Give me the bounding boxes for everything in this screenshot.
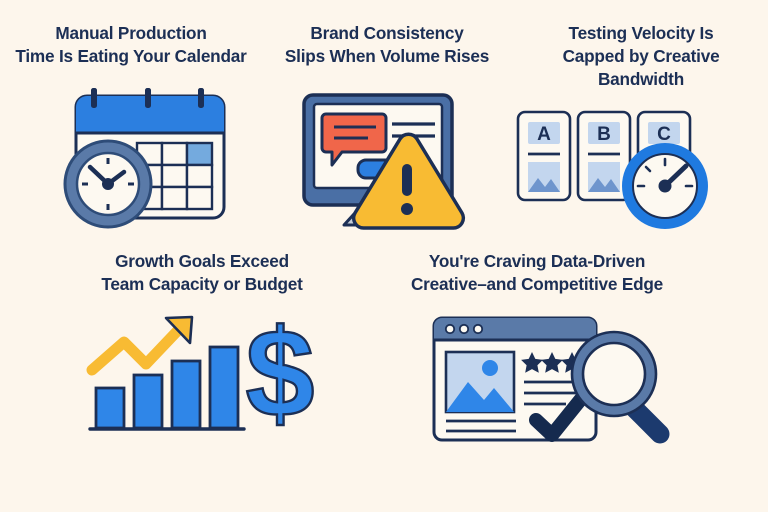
card-title-growth-goals: Growth Goals Exceed Team Capacity or Bud… [42, 250, 362, 296]
title-line: Bandwidth [514, 68, 768, 91]
card-label-b: B [597, 124, 611, 145]
title-line: Capped by Creative [514, 45, 768, 68]
calendar-clock-icon [58, 86, 238, 234]
title-line: Growth Goals Exceed [42, 250, 362, 273]
card-title-manual-production: Manual Production Time Is Eating Your Ca… [0, 22, 262, 68]
card-label-a: A [537, 124, 551, 145]
dollar-sign-icon: $ [246, 312, 315, 438]
title-line: Manual Production [0, 22, 262, 45]
card-title-testing-velocity: Testing Velocity Is Capped by Creative B… [514, 22, 768, 91]
title-line: Testing Velocity Is [514, 22, 768, 45]
window-dot [474, 325, 482, 333]
card-testing-velocity: Testing Velocity Is Capped by Creative B… [514, 22, 768, 91]
window-dot [446, 325, 454, 333]
title-line: Creative–and Competitive Edge [372, 273, 702, 296]
title-line: You're Craving Data-Driven [372, 250, 702, 273]
title-line: Slips When Volume Rises [256, 45, 518, 68]
bar-chart-dollar-icon: $ [78, 312, 318, 438]
card-title-brand-consistency: Brand Consistency Slips When Volume Rise… [256, 22, 518, 68]
infographic-board: Manual Production Time Is Eating Your Ca… [0, 0, 768, 512]
window-dot [460, 325, 468, 333]
card-brand-consistency: Brand Consistency Slips When Volume Rise… [256, 22, 518, 68]
card-title-data-driven: You're Craving Data-Driven Creative–and … [372, 250, 702, 296]
title-line: Brand Consistency [256, 22, 518, 45]
monitor-warning-icon [296, 92, 488, 232]
ab-test-cards-gauge-icon: A B C [510, 104, 710, 234]
browser-search-review-icon [424, 310, 690, 448]
card-label-c: C [657, 124, 671, 145]
card-manual-production: Manual Production Time Is Eating Your Ca… [0, 22, 262, 68]
title-line: Team Capacity or Budget [42, 273, 362, 296]
card-data-driven: You're Craving Data-Driven Creative–and … [372, 250, 702, 296]
title-line: Time Is Eating Your Calendar [0, 45, 262, 68]
card-growth-goals: Growth Goals Exceed Team Capacity or Bud… [42, 250, 362, 296]
